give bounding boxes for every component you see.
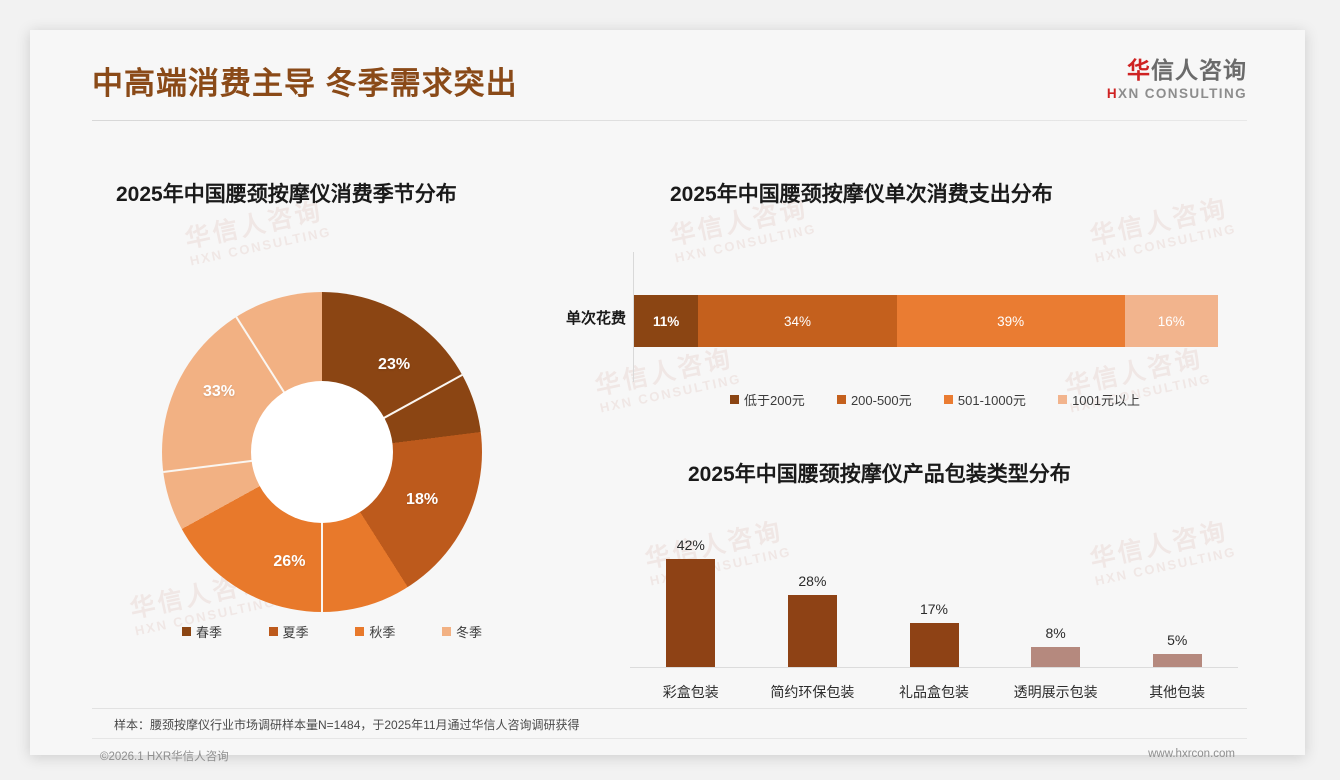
chart-title-season-donut: 2025年中国腰颈按摩仪消费季节分布 xyxy=(116,178,457,208)
legend-label: 501-1000元 xyxy=(958,390,1026,409)
watermark-line2: HXN CONSULTING xyxy=(599,371,743,416)
legend-label: 秋季 xyxy=(369,622,395,641)
brand-en-highlight: H xyxy=(1107,86,1118,101)
donut-hole xyxy=(251,381,393,523)
column-value-label: 17% xyxy=(920,601,948,617)
legend-item-冬季[interactable]: 冬季 xyxy=(442,622,482,641)
legend-swatch-icon xyxy=(269,627,278,636)
column-chart-baseline xyxy=(630,667,1238,668)
legend-swatch-icon xyxy=(442,627,451,636)
legend-swatch-icon xyxy=(730,395,739,404)
legend-swatch-icon xyxy=(182,627,191,636)
column-bar[interactable] xyxy=(788,595,837,667)
column-value-label: 42% xyxy=(677,537,705,553)
legend-item-501-1000元[interactable]: 501-1000元 xyxy=(944,390,1026,409)
chart-title-spend-stacked-bar: 2025年中国腰颈按摩仪单次消费支出分布 xyxy=(670,178,1053,208)
header-divider xyxy=(92,120,1247,121)
brand-cn-rest: 信人咨询 xyxy=(1151,57,1247,83)
legend-swatch-icon xyxy=(355,627,364,636)
donut-label-spring: 23% xyxy=(378,356,410,374)
watermark-line2: HXN CONSULTING xyxy=(1094,221,1238,266)
footer-copyright: ©2026.1 HXR华信人咨询 xyxy=(100,748,229,764)
donut-label-autumn: 26% xyxy=(273,553,305,571)
column-bar[interactable] xyxy=(910,623,959,667)
watermark: 华信人咨询 HXN CONSULTING xyxy=(591,338,742,416)
legend-label: 1001元以上 xyxy=(1072,390,1140,409)
stacked-bar: 11%34%39%16% xyxy=(634,295,1218,347)
brand-en-rest: XN CONSULTING xyxy=(1118,86,1247,101)
slide-header: 中高端消费主导 冬季需求突出 华信人咨询 HXN CONSULTING xyxy=(30,30,1305,125)
watermark-line2: HXN CONSULTING xyxy=(674,221,818,266)
spend-stacked-bar-legend: 低于200元200-500元501-1000元1001元以上 xyxy=(730,390,1140,409)
legend-label: 200-500元 xyxy=(851,390,912,409)
footer-divider xyxy=(92,738,1247,739)
packaging-column-chart: 42%28%17%8%5% xyxy=(630,522,1238,667)
legend-swatch-icon xyxy=(944,395,953,404)
legend-swatch-icon xyxy=(1058,395,1067,404)
column-category-label: 彩盒包装 xyxy=(626,682,756,702)
column-bar[interactable] xyxy=(666,559,715,667)
column-group-礼品盒包装[interactable]: 17% xyxy=(879,522,989,667)
watermark-line1: 华信人咨询 xyxy=(591,338,739,403)
legend-item-秋季[interactable]: 秋季 xyxy=(355,622,395,641)
brand-name-en: HXN CONSULTING xyxy=(1107,86,1247,101)
legend-swatch-icon xyxy=(837,395,846,404)
column-value-label: 5% xyxy=(1167,632,1187,648)
brand-logo: 华信人咨询 HXN CONSULTING xyxy=(1107,58,1247,101)
legend-label: 低于200元 xyxy=(744,390,805,409)
column-value-label: 28% xyxy=(798,573,826,589)
donut-label-summer: 18% xyxy=(406,491,438,509)
column-bar[interactable] xyxy=(1031,647,1080,667)
season-donut-chart: 23% 18% 26% 33% xyxy=(162,292,482,612)
stacked-bar-segment-1001元以上[interactable]: 16% xyxy=(1125,295,1218,347)
slide-card: 中高端消费主导 冬季需求突出 华信人咨询 HXN CONSULTING 华信人咨… xyxy=(30,30,1305,755)
stacked-bar-segment-501-1000元[interactable]: 39% xyxy=(897,295,1125,347)
legend-item-春季[interactable]: 春季 xyxy=(182,622,222,641)
watermark-line2: HXN CONSULTING xyxy=(189,224,333,269)
legend-label: 夏季 xyxy=(283,622,309,641)
legend-item-夏季[interactable]: 夏季 xyxy=(269,622,309,641)
chart-title-packaging-column: 2025年中国腰颈按摩仪产品包装类型分布 xyxy=(688,458,1071,488)
column-category-label: 简约环保包装 xyxy=(747,682,877,702)
column-group-透明展示包装[interactable]: 8% xyxy=(1001,522,1111,667)
donut-label-winter: 33% xyxy=(203,383,235,401)
stacked-bar-category-label: 单次花费 xyxy=(528,307,626,328)
column-category-label: 其他包装 xyxy=(1112,682,1242,702)
column-category-label: 礼品盒包装 xyxy=(869,682,999,702)
column-value-label: 8% xyxy=(1045,625,1065,641)
footnote: 样本：腰颈按摩仪行业市场调研样本量N=1484，于2025年11月通过华信人咨询… xyxy=(114,716,580,733)
legend-label: 春季 xyxy=(196,622,222,641)
stacked-bar-segment-低于200元[interactable]: 11% xyxy=(634,295,698,347)
footer-website[interactable]: www.hxrcon.com xyxy=(1148,748,1235,760)
brand-name-cn: 华信人咨询 xyxy=(1107,58,1247,83)
legend-label: 冬季 xyxy=(456,622,482,641)
footnote-divider xyxy=(92,708,1247,709)
brand-cn-highlight: 华 xyxy=(1127,57,1151,83)
watermark-line1: 华信人咨询 xyxy=(1086,188,1234,253)
column-group-彩盒包装[interactable]: 42% xyxy=(636,522,746,667)
stacked-bar-segment-200-500元[interactable]: 34% xyxy=(698,295,897,347)
watermark: 华信人咨询 HXN CONSULTING xyxy=(1086,188,1237,266)
page-title: 中高端消费主导 冬季需求突出 xyxy=(92,58,518,103)
season-donut-legend: 春季夏季秋季冬季 xyxy=(182,622,482,641)
column-category-label: 透明展示包装 xyxy=(991,682,1121,702)
column-group-其他包装[interactable]: 5% xyxy=(1122,522,1232,667)
column-bar[interactable] xyxy=(1153,654,1202,667)
column-group-简约环保包装[interactable]: 28% xyxy=(757,522,867,667)
legend-item-200-500元[interactable]: 200-500元 xyxy=(837,390,912,409)
legend-item-低于200元[interactable]: 低于200元 xyxy=(730,390,805,409)
legend-item-1001元以上[interactable]: 1001元以上 xyxy=(1058,390,1140,409)
